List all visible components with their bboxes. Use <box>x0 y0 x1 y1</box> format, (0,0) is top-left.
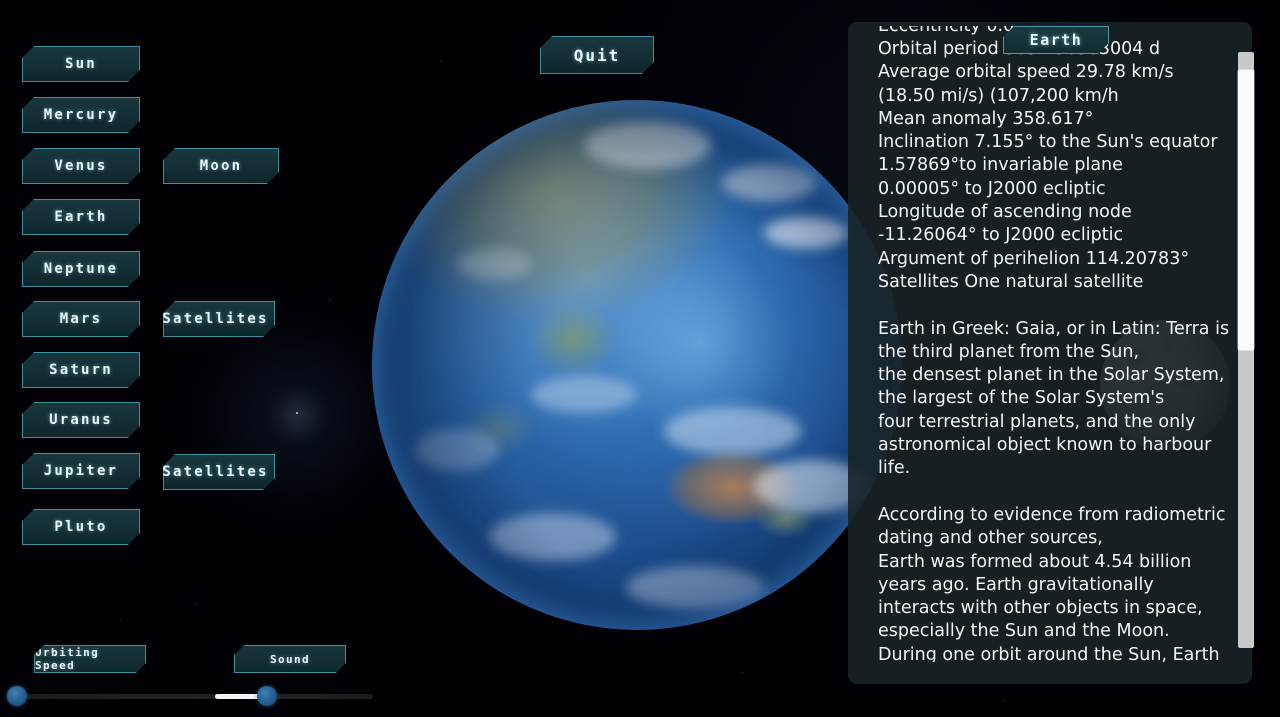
planet-button-label: Uranus <box>49 412 113 428</box>
planet-button-jupiter[interactable]: Jupiter <box>22 453 140 489</box>
earth-body <box>372 100 902 630</box>
app-stage: SunMercuryVenusEarthNeptuneMarsSaturnUra… <box>0 0 1280 717</box>
info-line: Earth was formed about 4.54 billion year… <box>878 551 1230 598</box>
info-line: interacts with other objects in space, e… <box>878 597 1230 644</box>
star <box>1004 700 1005 701</box>
info-panel-title-label: Earth <box>1030 31 1083 49</box>
info-line: Argument of perihelion 114.20783° <box>878 248 1230 271</box>
planet-button-label: Jupiter <box>44 463 118 479</box>
planet-button-label: Mercury <box>44 107 118 123</box>
star <box>296 412 298 414</box>
sound-slider-label: Sound <box>234 645 346 673</box>
orbiting-speed-slider-label: Orbiting Speed <box>34 645 146 673</box>
info-line: 0.00005° to J2000 ecliptic <box>878 178 1230 201</box>
info-line: Earth in Greek: Gaia, or in Latin: Terra… <box>878 318 1230 365</box>
earth-sphere <box>372 100 902 630</box>
satellite-button-satellites-1[interactable]: Satellites <box>163 301 275 337</box>
planet-button-saturn[interactable]: Saturn <box>22 352 140 388</box>
planet-button-label: Pluto <box>54 519 107 535</box>
orbiting-speed-slider-handle[interactable] <box>7 686 27 706</box>
sound-slider-label-text: Sound <box>270 653 310 666</box>
nebula-glow <box>272 392 324 438</box>
info-line: Longitude of ascending node -11.26064° t… <box>878 201 1230 248</box>
info-line: Mean anomaly 358.617° <box>878 108 1230 131</box>
planet-button-label: Sun <box>65 56 97 72</box>
star <box>196 604 197 605</box>
scrollbar-thumb[interactable] <box>1238 70 1254 350</box>
satellite-button-satellites-2[interactable]: Satellites <box>163 454 275 490</box>
info-line: Inclination 7.155° to the Sun's equator <box>878 131 1230 154</box>
info-line: During one orbit around the Sun, Earth <box>878 644 1230 662</box>
quit-button-label: Quit <box>574 46 621 65</box>
star <box>120 620 121 621</box>
info-panel-text: Eccentricity 0.0167086Orbital period 365… <box>878 26 1230 662</box>
info-line-spacer <box>878 481 1230 504</box>
planet-button-sun[interactable]: Sun <box>22 46 140 82</box>
planet-button-neptune[interactable]: Neptune <box>22 251 140 287</box>
satellite-button-label: Satellites <box>162 464 268 480</box>
info-panel-title-tab: Earth <box>1003 26 1109 54</box>
planet-button-mercury[interactable]: Mercury <box>22 97 140 133</box>
planet-button-earth[interactable]: Earth <box>22 199 140 235</box>
star <box>330 300 331 301</box>
planet-button-label: Neptune <box>44 261 118 277</box>
info-line: Satellites One natural satellite <box>878 271 1230 294</box>
planet-button-label: Saturn <box>49 362 113 378</box>
planet-button-uranus[interactable]: Uranus <box>22 402 140 438</box>
star <box>742 672 743 673</box>
info-panel-scrollbar[interactable] <box>1238 52 1254 648</box>
quit-button[interactable]: Quit <box>540 36 654 74</box>
sound-slider-handle[interactable] <box>257 686 277 706</box>
satellite-button-moon-0[interactable]: Moon <box>163 148 279 184</box>
earth-rim-light <box>372 100 902 630</box>
info-line: According to evidence from radiometric d… <box>878 504 1230 551</box>
planet-button-venus[interactable]: Venus <box>22 148 140 184</box>
sound-slider[interactable] <box>215 687 373 705</box>
info-line: 1.57869°to invariable plane <box>878 154 1230 177</box>
star <box>440 60 441 61</box>
info-line: Average orbital speed 29.78 km/s (18.50 … <box>878 61 1230 108</box>
orbiting-speed-slider-label-text: Orbiting Speed <box>35 646 145 672</box>
planet-button-label: Mars <box>60 311 103 327</box>
satellite-button-label: Satellites <box>162 311 268 327</box>
info-line-spacer <box>878 294 1230 317</box>
planet-button-label: Venus <box>54 158 107 174</box>
planet-button-mars[interactable]: Mars <box>22 301 140 337</box>
satellite-button-label: Moon <box>200 158 243 174</box>
planet-button-label: Earth <box>54 209 107 225</box>
info-line: the densest planet in the Solar System, … <box>878 364 1230 411</box>
info-line: four terrestrial planets, and the only a… <box>878 411 1230 481</box>
planet-button-pluto[interactable]: Pluto <box>22 509 140 545</box>
